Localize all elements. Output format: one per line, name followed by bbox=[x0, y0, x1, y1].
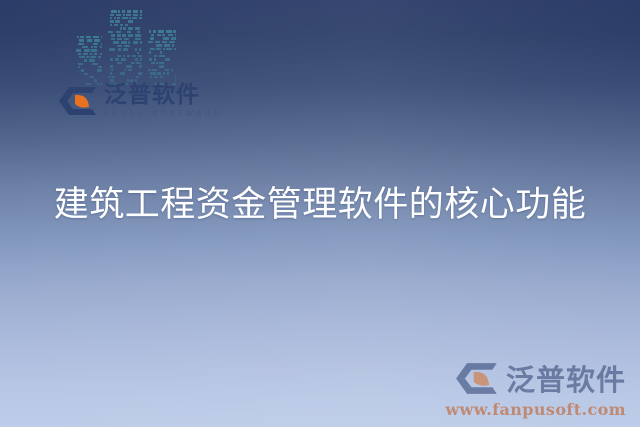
cityscape-brick bbox=[123, 55, 125, 58]
cityscape-brick bbox=[114, 17, 116, 20]
cityscape-brick bbox=[82, 46, 88, 48]
cityscape-brick bbox=[89, 59, 95, 61]
cityscape-brick bbox=[140, 41, 142, 44]
cityscape-brick bbox=[157, 72, 161, 75]
cityscape-brick bbox=[114, 24, 118, 27]
cityscape-brick bbox=[135, 58, 138, 61]
cityscape-brick bbox=[155, 41, 160, 44]
cityscape-brick bbox=[80, 36, 84, 38]
cityscape-brick bbox=[159, 65, 164, 68]
cityscape-brick bbox=[140, 14, 142, 17]
cityscape-brick bbox=[175, 76, 176, 79]
cityscape-brick bbox=[94, 53, 97, 55]
cityscape-brick bbox=[139, 17, 142, 20]
cityscape-brick bbox=[162, 34, 165, 37]
cityscape-brick bbox=[156, 44, 162, 47]
cityscape-brick bbox=[171, 69, 173, 72]
cityscape-brick bbox=[90, 56, 96, 58]
cityscape-brick bbox=[120, 24, 123, 27]
cityscape-brick bbox=[154, 76, 158, 79]
cityscape-brick bbox=[100, 53, 103, 55]
cityscape-brick bbox=[154, 58, 156, 61]
cityscape-brick bbox=[117, 34, 121, 37]
cityscape-brick bbox=[169, 41, 175, 44]
cityscape-brick bbox=[128, 34, 133, 37]
cityscape-brick bbox=[76, 49, 81, 51]
fanpu-logo-cn-text: 泛普软件 bbox=[104, 84, 222, 107]
banner-canvas: 泛普软件 FANPU SOFTWARE 建筑工程资金管理软件的核心功能 泛普软件… bbox=[0, 0, 640, 427]
cityscape-brick bbox=[156, 48, 161, 51]
cityscape-brick bbox=[163, 37, 169, 40]
cityscape-brick bbox=[124, 38, 129, 41]
fanpu-logo-wordmark: 泛普软件 FANPU SOFTWARE bbox=[104, 84, 222, 118]
cityscape-brick bbox=[115, 20, 120, 23]
cityscape-brick bbox=[163, 48, 165, 51]
cityscape-brick bbox=[124, 69, 126, 72]
cityscape-brick bbox=[111, 76, 115, 79]
cityscape-brick bbox=[117, 45, 122, 48]
cityscape-brick bbox=[151, 34, 154, 37]
cityscape-brick bbox=[132, 17, 137, 20]
cityscape-brick bbox=[160, 51, 162, 54]
cityscape-brick bbox=[149, 51, 151, 54]
cityscape-brick bbox=[117, 62, 122, 65]
cityscape-brick bbox=[124, 45, 130, 48]
cityscape-brick bbox=[94, 46, 97, 48]
cityscape-brick bbox=[97, 69, 102, 71]
cityscape-brick bbox=[83, 53, 88, 55]
cityscape-brick bbox=[77, 36, 79, 38]
cityscape-brick bbox=[156, 62, 158, 65]
watermark-cn-text: 泛普软件 bbox=[506, 357, 626, 399]
cityscape-brick bbox=[126, 14, 131, 17]
cityscape-brick bbox=[137, 31, 140, 34]
cityscape-brick bbox=[153, 30, 156, 33]
cityscape-brick bbox=[94, 79, 97, 81]
cityscape-brick bbox=[151, 62, 155, 65]
cityscape-brick bbox=[132, 55, 136, 58]
cityscape-brick bbox=[172, 44, 174, 47]
watermark-logo-mark-icon bbox=[455, 362, 499, 395]
cityscape-brick bbox=[171, 37, 176, 40]
cityscape-brick bbox=[78, 53, 81, 55]
cityscape-brick bbox=[111, 10, 117, 13]
cityscape-brick bbox=[87, 39, 92, 41]
cityscape-brick bbox=[148, 41, 153, 44]
cityscape-brick bbox=[174, 48, 176, 51]
cityscape-brick bbox=[98, 66, 102, 68]
cityscape-brick bbox=[135, 38, 141, 41]
cityscape-brick bbox=[126, 65, 132, 68]
cityscape-brick bbox=[92, 63, 98, 65]
cityscape-brick bbox=[93, 43, 98, 45]
cityscape-right-tower bbox=[148, 30, 176, 86]
cityscape-brick bbox=[118, 48, 121, 51]
cityscape-brick bbox=[122, 17, 128, 20]
cityscape-brick bbox=[150, 48, 155, 51]
cityscape-brick bbox=[133, 14, 138, 17]
cityscape-brick bbox=[149, 30, 151, 33]
cityscape-brick bbox=[86, 56, 89, 58]
cityscape-brick bbox=[157, 34, 161, 37]
cityscape-left-tower bbox=[76, 36, 102, 86]
cityscape-brick bbox=[127, 55, 130, 58]
cityscape-brick bbox=[125, 24, 128, 27]
cityscape-brick bbox=[78, 66, 80, 68]
cityscape-brick bbox=[168, 34, 173, 37]
cityscape-brick bbox=[175, 34, 176, 37]
cityscape-brick bbox=[135, 48, 137, 51]
cityscape-brick bbox=[121, 58, 126, 61]
cityscape-brick bbox=[152, 69, 157, 72]
cityscape-brick bbox=[111, 38, 115, 41]
cityscape-brick bbox=[115, 58, 119, 61]
cityscape-brick bbox=[135, 27, 140, 30]
cityscape-brick bbox=[110, 17, 112, 20]
cityscape-brick bbox=[128, 41, 130, 44]
cityscape-brick bbox=[128, 20, 133, 23]
cityscape-brick bbox=[163, 72, 165, 75]
cityscape-brick bbox=[90, 53, 92, 55]
cityscape-brick bbox=[123, 14, 125, 17]
cityscape-brick bbox=[140, 58, 142, 61]
watermark-url-text: www.fanpusoft.com bbox=[426, 400, 626, 419]
cityscape-brick bbox=[100, 46, 102, 48]
cityscape-brick bbox=[110, 72, 112, 75]
cityscape-brick bbox=[111, 34, 115, 37]
cityscape-brick bbox=[78, 63, 83, 65]
cityscape-brick bbox=[150, 37, 154, 40]
cityscape-brick bbox=[117, 38, 122, 41]
cityscape-brick bbox=[133, 41, 138, 44]
cityscape-brick bbox=[101, 36, 102, 38]
fanpu-logo-en-text: FANPU SOFTWARE bbox=[104, 110, 222, 118]
cityscape-brick bbox=[118, 10, 120, 13]
cityscape-brick bbox=[138, 55, 142, 58]
watermark-logo-row: 泛普软件 bbox=[426, 357, 626, 399]
cityscape-brick bbox=[123, 48, 128, 51]
cityscape-brick bbox=[136, 76, 139, 79]
cityscape-brick bbox=[138, 72, 142, 75]
cityscape-center-tower bbox=[108, 10, 142, 86]
cityscape-brick bbox=[164, 44, 170, 47]
cityscape-brick bbox=[120, 72, 125, 75]
cityscape-brick bbox=[148, 69, 151, 72]
cityscape-brick bbox=[135, 34, 141, 37]
cityscape-brick bbox=[162, 41, 167, 44]
cityscape-brick bbox=[136, 62, 141, 65]
fanpu-logo-mark-icon bbox=[58, 86, 98, 116]
cityscape-brick bbox=[150, 72, 156, 75]
cityscape-brick bbox=[117, 55, 121, 58]
cityscape-brick bbox=[173, 30, 176, 33]
cityscape-brick bbox=[127, 31, 131, 34]
cityscape-brick bbox=[101, 43, 102, 45]
cityscape-brick bbox=[84, 73, 88, 75]
cityscape-brick bbox=[122, 34, 126, 37]
cityscape-brick bbox=[84, 49, 90, 51]
cityscape-brick bbox=[110, 58, 113, 61]
pixel-cityscape-graphic bbox=[72, 8, 180, 86]
cityscape-brick bbox=[159, 62, 164, 65]
cityscape-brick bbox=[150, 76, 152, 79]
cityscape-brick bbox=[167, 72, 169, 75]
cityscape-brick bbox=[89, 76, 94, 78]
cityscape-brick bbox=[110, 24, 112, 27]
cityscape-brick bbox=[122, 10, 125, 13]
cityscape-brick bbox=[139, 48, 141, 51]
cityscape-brick bbox=[78, 43, 84, 45]
cityscape-brick bbox=[165, 58, 170, 61]
cityscape-brick bbox=[120, 27, 122, 30]
cityscape-brick bbox=[117, 17, 120, 20]
cityscape-brick bbox=[123, 27, 126, 30]
cityscape-brick bbox=[160, 76, 163, 79]
page-title: 建筑工程资金管理软件的核心功能 bbox=[0, 176, 640, 227]
cityscape-brick bbox=[79, 39, 84, 41]
cityscape-brick bbox=[131, 62, 135, 65]
cityscape-brick bbox=[109, 48, 115, 51]
cityscape-brick bbox=[79, 56, 85, 58]
cityscape-brick bbox=[166, 30, 172, 33]
cityscape-brick bbox=[121, 41, 127, 44]
fanpu-watermark: 泛普软件 www.fanpusoft.com bbox=[426, 357, 626, 419]
cityscape-brick bbox=[129, 17, 131, 20]
cityscape-brick bbox=[128, 27, 133, 30]
cityscape-brick bbox=[139, 65, 142, 68]
cityscape-brick bbox=[149, 58, 152, 61]
cityscape-brick bbox=[140, 10, 142, 13]
cityscape-brick bbox=[154, 55, 157, 58]
cityscape-brick bbox=[158, 30, 164, 33]
cityscape-brick bbox=[108, 76, 110, 79]
cityscape-brick bbox=[110, 14, 114, 17]
cityscape-brick bbox=[137, 52, 139, 55]
cityscape-brick bbox=[91, 46, 93, 48]
cityscape-brick bbox=[108, 31, 113, 34]
cityscape-brick bbox=[116, 14, 121, 17]
cityscape-brick bbox=[159, 55, 165, 58]
cityscape-brick bbox=[93, 36, 99, 38]
cityscape-brick bbox=[127, 10, 131, 13]
cityscape-brick bbox=[86, 36, 91, 38]
cityscape-brick bbox=[133, 10, 138, 13]
cityscape-brick bbox=[111, 69, 113, 72]
cityscape-brick bbox=[110, 65, 113, 68]
cityscape-brick bbox=[84, 59, 87, 61]
cityscape-brick bbox=[98, 56, 101, 58]
cityscape-brick bbox=[91, 49, 97, 51]
cityscape-brick bbox=[110, 20, 114, 23]
cityscape-brick bbox=[165, 69, 169, 72]
fanpu-software-logo: 泛普软件 FANPU SOFTWARE bbox=[58, 84, 222, 118]
cityscape-brick bbox=[113, 41, 119, 44]
cityscape-brick bbox=[116, 31, 121, 34]
cityscape-brick bbox=[81, 69, 84, 71]
cityscape-brick bbox=[94, 39, 100, 41]
cityscape-brick bbox=[166, 48, 172, 51]
cityscape-brick bbox=[128, 69, 132, 72]
